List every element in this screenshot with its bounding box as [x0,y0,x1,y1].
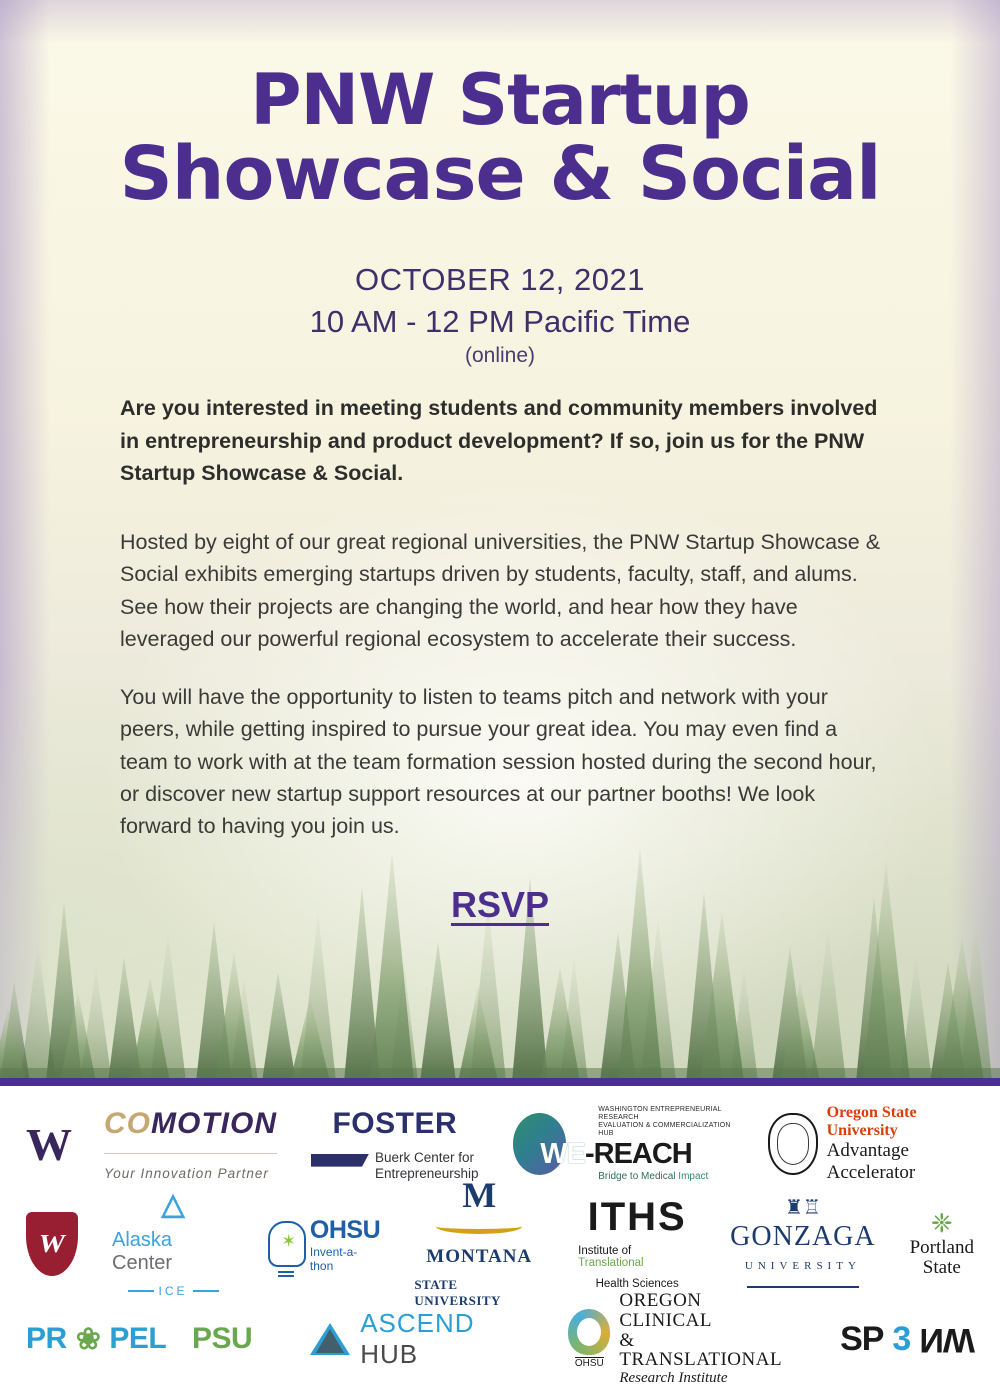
foster-name: FOSTER [332,1107,457,1141]
msu-arc-icon [436,1219,522,1234]
osu-line1: Oregon State University [827,1104,974,1140]
alaska-name: Alaska [112,1229,172,1251]
osu-line2: Advantage Accelerator [827,1140,974,1184]
ohsu-invent-label: Invent-a-thon [310,1245,380,1273]
portland-state-line2: State [923,1257,961,1278]
gonzaga-rule [747,1286,859,1288]
alaska-center: Center [112,1252,172,1274]
ascend-triangle-icon [310,1323,350,1355]
event-date: OCTOBER 12, 2021 [0,262,1000,298]
logo-osu-advantage-accelerator[interactable]: Oregon State University Advantage Accele… [768,1104,974,1184]
purple-divider [0,1078,1000,1086]
iths-sub-accent: Translational [578,1257,643,1269]
logo-row-2: W △ Alaska Center ICE ✶ OHSU Invent-a-th… [0,1194,1000,1294]
gonzaga-name: GONZAGA [730,1223,875,1251]
sp3nw-three: 3 [892,1320,910,1359]
msu-line1: MONTANA [426,1246,532,1268]
hub-word: HUB [360,1339,418,1369]
portland-state-line1: Portland [910,1237,974,1258]
logo-iths[interactable]: ITHS Institute of Translational Health S… [578,1198,696,1290]
iths-sub-plain: Institute of [578,1245,631,1257]
wsu-cougar-shield-icon: W [26,1212,78,1276]
we-reach-eyebrow-1: WASHINGTON ENTREPRENEURIAL RESEARCH [598,1106,721,1121]
logo-uw[interactable]: W [26,1118,70,1171]
event-time: 10 AM - 12 PM Pacific Time [0,304,1000,340]
octri-line1: OREGON CLINICAL [619,1291,782,1331]
title-line-1: PNW Startup [250,59,750,141]
logo-montana-state[interactable]: M MONTANA STATE UNIVERSITY [414,1179,544,1308]
octri-swirl-icon [568,1309,610,1355]
poster-hero: PNW Startup Showcase & Social OCTOBER 12… [0,0,1000,1082]
comotion-rule [104,1153,277,1154]
poster-body: Are you interested in meeting students a… [120,392,888,868]
we-reach-eyebrow-2: EVALUATION & COMMERCIALIZATION HUB [598,1122,730,1137]
rsvp-link[interactable]: RSVP [451,884,549,926]
sp3nw-sp: SP [840,1320,883,1359]
paragraph-two: Hosted by eight of our great regional un… [120,526,888,655]
event-mode: (online) [0,344,1000,368]
octri-line3: Research Institute [619,1370,782,1387]
octri-ohsu-badge: OHSU [575,1357,604,1369]
logo-portland-state[interactable]: ❈ Portland State [910,1210,974,1278]
octri-line2: & TRANSLATIONAL [619,1331,782,1371]
alaska-swoosh-icon: △ [162,1190,185,1220]
foster-bar-icon [311,1154,369,1167]
wsu-mark: W [36,1229,67,1259]
ohsu-name: OHSU [310,1216,380,1245]
event-datetime: OCTOBER 12, 2021 10 AM - 12 PM Pacific T… [0,262,1000,368]
sp3nw-nw: NW [919,1320,974,1359]
uw-w-icon: W [26,1118,70,1171]
logo-gonzaga[interactable]: ♜♖ GONZAGA UNIVERSITY [730,1200,875,1288]
logo-comotion[interactable]: COMOTION Your Innovation Partner [104,1107,277,1181]
logo-ohsu-invent-a-thon[interactable]: ✶ OHSU Invent-a-thon [268,1216,380,1273]
gonzaga-university-label: UNIVERSITY [745,1260,861,1272]
paragraph-lead: Are you interested in meeting students a… [120,392,888,490]
we-reach-tagline-accent: Impact [678,1171,708,1182]
logo-row-3: PR❀PEL PSU ASCEND HUB OHSU OREGON CLINIC… [0,1294,1000,1384]
comotion-motion-text: MOTION [151,1107,277,1140]
spark-icon: ✶ [281,1232,296,1250]
foster-sub-line1: Buerk Center for [375,1150,474,1165]
comotion-tagline: Your Innovation Partner [104,1166,269,1181]
propel-part1: PR [26,1322,67,1356]
paragraph-three: You will have the opportunity to listen … [120,681,888,842]
lightbulb-icon: ✶ [268,1221,306,1267]
poster-page: PNW Startup Showcase & Social OCTOBER 12… [0,0,1000,1400]
propel-part2: PEL [109,1322,166,1356]
we-reach-we: WE [540,1138,585,1170]
msu-m-icon: M [462,1179,496,1211]
logo-wsu[interactable]: W [26,1212,78,1276]
portland-state-knot-icon: ❈ [931,1210,953,1236]
logo-sp3nw[interactable]: SP3NW [840,1320,974,1359]
we-reach-tagline: Bridge to Medical [598,1171,678,1182]
logo-foster[interactable]: FOSTER Buerk Center for Entrepreneurship [311,1107,479,1182]
we-reach-reach: -REACH [585,1138,692,1170]
ascend-word: ASCEND [360,1308,474,1338]
gonzaga-spires-icon: ♜♖ [785,1200,821,1216]
iths-mark: ITHS [588,1198,687,1236]
osu-seal-icon [768,1113,818,1175]
rsvp-container: RSVP [0,884,1000,926]
logo-ascend-hub[interactable]: ASCEND HUB [310,1308,510,1370]
logo-octri[interactable]: OHSU OREGON CLINICAL & TRANSLATIONAL Res… [568,1291,782,1388]
page-title: PNW Startup Showcase & Social [0,64,1000,212]
title-line-2: Showcase & Social [0,136,1000,212]
logo-alaska-center-ice[interactable]: △ Alaska Center ICE [112,1190,234,1298]
logo-propel-psu[interactable]: PR❀PEL PSU [26,1322,252,1357]
iths-sub-line2: Health Sciences [596,1278,679,1290]
logo-we-reach[interactable]: WASHINGTON ENTREPRENEURIAL RESEARCH EVAL… [513,1106,734,1182]
propel-psu: PSU [192,1322,252,1356]
comotion-co-text: CO [104,1107,151,1140]
sponsor-logo-strip: W COMOTION Your Innovation Partner FOSTE… [0,1086,1000,1400]
propel-knot-icon: ❀ [76,1322,101,1357]
